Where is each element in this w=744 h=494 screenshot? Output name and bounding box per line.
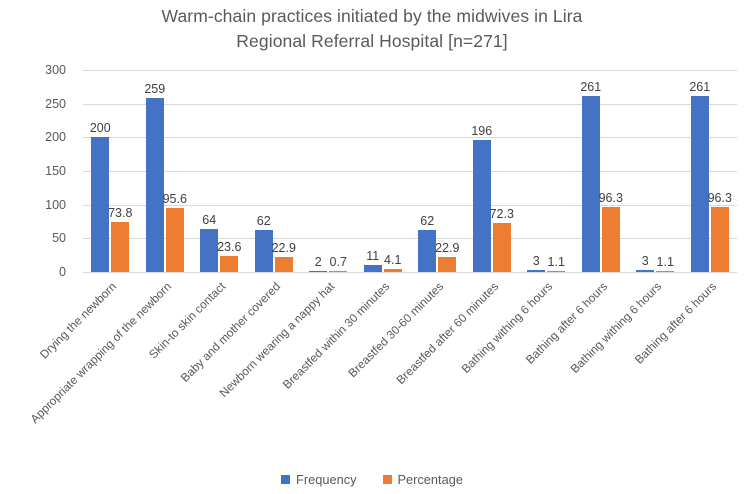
chart-title-line-1: Warm-chain practices initiated by the mi… [161, 6, 582, 26]
gridline [83, 137, 737, 138]
bar-value-label: 64 [189, 214, 229, 227]
y-axis-tick-label: 200 [0, 131, 66, 143]
plot-area: 20073.825995.66423.66222.920.7114.16222.… [83, 70, 737, 272]
bar-value-label: 1.1 [645, 256, 685, 269]
legend-label: Percentage [398, 472, 463, 487]
bar-percentage [220, 256, 238, 272]
x-axis-category-labels: Drying the newbornAppropriate wrapping o… [0, 272, 744, 452]
bar-frequency [582, 96, 600, 272]
bar-value-label: 72.3 [482, 208, 522, 221]
legend-swatch-icon [383, 475, 392, 484]
legend-item[interactable]: Percentage [383, 472, 463, 487]
bar-percentage [275, 257, 293, 272]
bar-value-label: 62 [244, 215, 284, 228]
bar-frequency [91, 137, 109, 272]
bar-value-label: 200 [80, 122, 120, 135]
bar-value-label: 1.1 [536, 256, 576, 269]
bar-frequency [691, 96, 709, 272]
bar-value-label: 261 [571, 81, 611, 94]
bar-percentage [166, 208, 184, 272]
bar-frequency [146, 98, 164, 272]
bar-value-label: 96.3 [700, 192, 740, 205]
gridline [83, 104, 737, 105]
bar-percentage [438, 257, 456, 272]
y-axis-tick-label: 50 [0, 232, 66, 244]
bar-percentage [493, 223, 511, 272]
bar-value-label: 22.9 [427, 242, 467, 255]
legend-item[interactable]: Frequency [281, 472, 356, 487]
y-axis-tick-label: 300 [0, 64, 66, 76]
y-axis-tick-label: 150 [0, 165, 66, 177]
bar-value-label: 259 [135, 83, 175, 96]
bar-value-label: 73.8 [100, 207, 140, 220]
gridline [83, 70, 737, 71]
y-axis-tick-labels: 300250200150100500 [0, 70, 72, 272]
bar-value-label: 62 [407, 215, 447, 228]
bar-frequency [473, 140, 491, 272]
bar-percentage [711, 207, 729, 272]
bar-value-label: 96.3 [591, 192, 631, 205]
bar-percentage [602, 207, 620, 272]
bar-value-label: 23.6 [209, 241, 249, 254]
legend-label: Frequency [296, 472, 356, 487]
bar-value-label: 261 [680, 81, 720, 94]
legend-swatch-icon [281, 475, 290, 484]
gridline [83, 171, 737, 172]
bar-chart: Warm-chain practices initiated by the mi… [0, 0, 744, 494]
bar-value-label: 95.6 [155, 193, 195, 206]
y-axis-tick-label: 250 [0, 98, 66, 110]
y-axis-tick-label: 100 [0, 199, 66, 211]
chart-title-line-2: Regional Referral Hospital [n=271] [236, 31, 507, 51]
chart-legend: FrequencyPercentage [0, 472, 744, 487]
bar-percentage [111, 222, 129, 272]
bar-value-label: 196 [462, 125, 502, 138]
chart-title: Warm-chain practices initiated by the mi… [60, 4, 684, 54]
bar-value-label: 22.9 [264, 242, 304, 255]
bar-value-label: 4.1 [373, 254, 413, 267]
